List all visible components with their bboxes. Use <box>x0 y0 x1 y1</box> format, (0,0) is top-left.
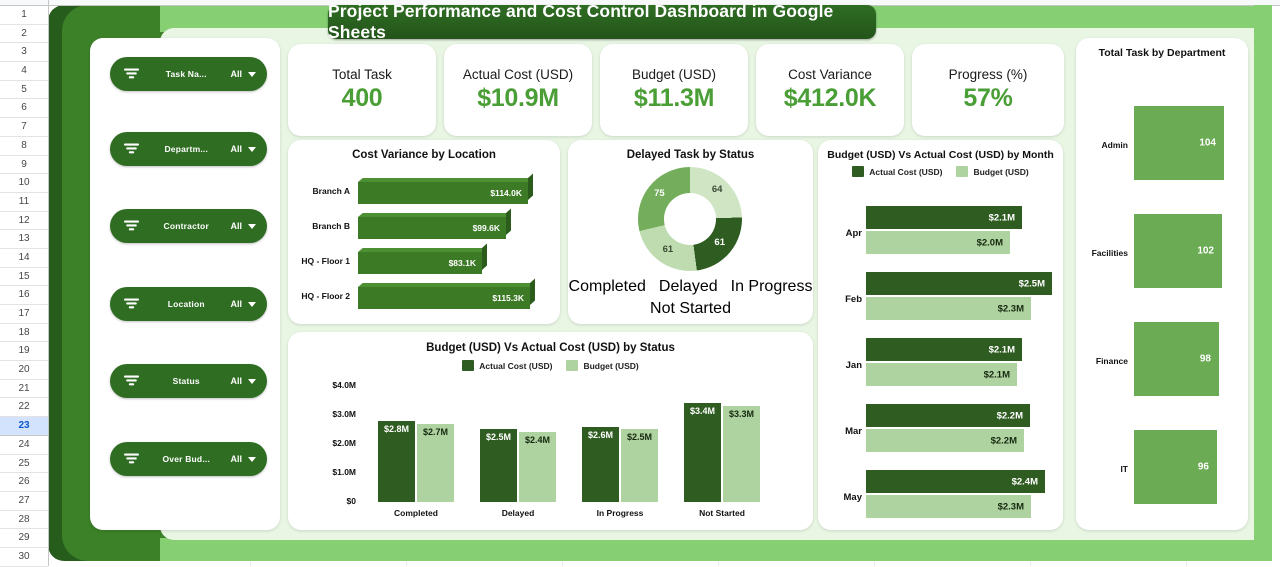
bar-3d-side <box>528 173 533 200</box>
kpi-value: 400 <box>342 84 383 113</box>
chart-card-total-task-by-department: Total Task by Department Admin104Facilit… <box>1076 38 1248 530</box>
chevron-down-icon[interactable] <box>248 379 256 384</box>
bar-3d-top <box>358 178 533 182</box>
x-axis-category-label: Delayed <box>466 508 570 518</box>
chart-title: Total Task by Department <box>1076 47 1248 59</box>
bar-value-label: $2.1M <box>989 344 1015 355</box>
kpi-label: Total Task <box>332 67 392 82</box>
filter-label: Contractor <box>142 221 230 231</box>
chart-title: Delayed Task by Status <box>568 149 813 161</box>
chart-title: Budget (USD) Vs Actual Cost (USD) by Mon… <box>818 149 1063 161</box>
dashboard-title-text: Project Performance and Cost Control Das… <box>328 1 876 43</box>
y-axis-tick-label: $0 <box>296 496 356 506</box>
bar-category-label: IT <box>1078 464 1128 474</box>
legend-label: Delayed <box>659 278 718 295</box>
filter-departm[interactable]: Departm...All <box>110 132 267 166</box>
bar-value-label: 96 <box>1198 462 1209 473</box>
bar-value-label: 104 <box>1199 138 1216 149</box>
bar-value-label: $2.4M <box>519 435 556 445</box>
column-budget: $2.5M <box>621 429 658 502</box>
legend-label: Budget (USD) <box>583 361 638 371</box>
filter-overbud[interactable]: Over Bud...All <box>110 442 267 476</box>
bar-category-label: HQ - Floor 2 <box>301 291 350 301</box>
kpi-card-actual-cost-usd: Actual Cost (USD)$10.9M <box>444 44 592 136</box>
chart-card-delayed-task-by-status: Delayed Task by Status 64616175 Complete… <box>568 140 813 324</box>
filter-label: Task Na... <box>142 69 230 79</box>
donut-slice-value: 61 <box>657 244 679 255</box>
filter-value: All <box>230 454 242 464</box>
kpi-card-cost-variance: Cost Variance$412.0K <box>756 44 904 136</box>
bar: 98 <box>1134 322 1219 396</box>
filter-contractor[interactable]: ContractorAll <box>110 209 267 243</box>
bar-value-label: $114.0K <box>490 188 522 198</box>
bar: $115.3K <box>358 287 530 309</box>
kpi-label: Progress (%) <box>949 67 1028 82</box>
bar-value-label: $2.2M <box>997 410 1023 421</box>
bar-value-label: $2.4M <box>1012 476 1038 487</box>
filter-panel: Task Na...AllDepartm...AllContractorAllL… <box>90 38 280 530</box>
kpi-label: Budget (USD) <box>632 67 716 82</box>
legend-item[interactable]: Actual Cost (USD) <box>852 166 942 177</box>
column-actual-cost: $2.5M <box>480 429 517 502</box>
x-axis-category-label: In Progress <box>568 508 672 518</box>
bar-category-label: Facilities <box>1078 248 1128 258</box>
column-budget: $2.4M <box>519 432 556 502</box>
bar-3d-top <box>358 213 511 217</box>
bar: $114.0K <box>358 182 528 204</box>
filter-label: Status <box>142 376 230 386</box>
legend-item[interactable]: Budget (USD) <box>956 166 1028 177</box>
filter-funnel-icon <box>120 453 142 465</box>
column-actual-cost: $2.8M <box>378 421 415 502</box>
x-axis-category-label: Completed <box>364 508 468 518</box>
bar-budget: $2.2M <box>866 429 1024 452</box>
legend-label: Actual Cost (USD) <box>479 361 552 371</box>
filter-label: Departm... <box>142 144 230 154</box>
bar-value-label: $83.1K <box>449 258 476 268</box>
bar-value-label: $2.6M <box>582 430 619 440</box>
legend-label: Completed <box>569 278 646 295</box>
bar-category-label: Jan <box>832 360 862 371</box>
bar-category-label: Finance <box>1078 356 1128 366</box>
bar-value-label: $2.1M <box>984 369 1010 380</box>
bar-3d-top <box>358 283 535 287</box>
bar-value-label: $2.2M <box>991 435 1017 446</box>
bar-value-label: $2.3M <box>998 303 1024 314</box>
bar: 104 <box>1134 106 1224 180</box>
bar-budget: $2.0M <box>866 231 1010 254</box>
donut-slice-value: 61 <box>709 237 731 248</box>
bar-category-label: Feb <box>832 294 862 305</box>
legend-swatch-icon <box>956 166 968 177</box>
legend-label: In Progress <box>731 278 813 295</box>
donut-slice-value: 64 <box>706 184 728 195</box>
bar-actual-cost: $2.1M <box>866 206 1022 229</box>
bar-value-label: $2.5M <box>1019 278 1045 289</box>
bar-category-label: Branch A <box>313 186 350 196</box>
kpi-card-budget-usd: Budget (USD)$11.3M <box>600 44 748 136</box>
bar-value-label: $2.3M <box>998 501 1024 512</box>
bar-actual-cost: $2.4M <box>866 470 1045 493</box>
legend-item[interactable]: Completed <box>569 278 646 296</box>
chevron-down-icon[interactable] <box>248 224 256 229</box>
kpi-card-total-task: Total Task400 <box>288 44 436 136</box>
bar-3d-top <box>358 248 487 252</box>
bar-3d-side <box>482 243 487 270</box>
y-axis-tick-label: $4.0M <box>296 380 356 390</box>
legend-swatch-icon <box>566 360 578 371</box>
bar-actual-cost: $2.2M <box>866 404 1030 427</box>
bar-value-label: $99.6K <box>473 223 500 233</box>
chevron-down-icon[interactable] <box>248 72 256 77</box>
bar-value-label: $3.3M <box>723 409 760 419</box>
chart-title: Cost Variance by Location <box>288 149 560 161</box>
filter-status[interactable]: StatusAll <box>110 364 267 398</box>
legend-item[interactable]: In Progress <box>731 278 813 296</box>
y-axis-tick-label: $3.0M <box>296 409 356 419</box>
bar-budget: $2.1M <box>866 363 1017 386</box>
bar-category-label: Branch B <box>312 221 350 231</box>
filter-value: All <box>230 144 242 154</box>
filter-location[interactable]: LocationAll <box>110 287 267 321</box>
filter-funnel-icon <box>120 68 142 80</box>
kpi-value: $11.3M <box>634 84 714 113</box>
filter-label: Over Bud... <box>142 454 230 464</box>
legend-item[interactable]: Delayed <box>659 278 718 296</box>
x-axis-category-label: Not Started <box>670 508 774 518</box>
kpi-card-progress: Progress (%)57% <box>912 44 1064 136</box>
bar-category-label: Apr <box>832 228 862 239</box>
legend-item[interactable]: Actual Cost (USD) <box>462 360 552 371</box>
legend-swatch-icon <box>462 360 474 371</box>
bar-actual-cost: $2.5M <box>866 272 1052 295</box>
bar-3d-side <box>530 278 535 305</box>
legend-label: Budget (USD) <box>973 167 1028 177</box>
legend-swatch-icon <box>852 166 864 177</box>
filter-funnel-icon <box>120 375 142 387</box>
filter-funnel-icon <box>120 143 142 155</box>
chart-card-budget-vs-actual-by-month: Budget (USD) Vs Actual Cost (USD) by Mon… <box>818 140 1063 530</box>
bar: $83.1K <box>358 252 482 274</box>
filter-funnel-icon <box>120 298 142 310</box>
kpi-value: $10.9M <box>477 84 559 113</box>
bar-budget: $2.3M <box>866 495 1031 518</box>
filter-value: All <box>230 376 242 386</box>
bar-value-label: $2.5M <box>480 432 517 442</box>
kpi-value: 57% <box>963 84 1012 113</box>
filter-value: All <box>230 69 242 79</box>
chevron-down-icon[interactable] <box>248 302 256 307</box>
filter-taskna[interactable]: Task Na...All <box>110 57 267 91</box>
legend-item[interactable]: Not Started <box>650 300 731 318</box>
legend-item[interactable]: Budget (USD) <box>566 360 638 371</box>
bar-value-label: $2.5M <box>621 432 658 442</box>
filter-value: All <box>230 299 242 309</box>
bar-value-label: $2.0M <box>977 237 1003 248</box>
chevron-down-icon[interactable] <box>248 457 256 462</box>
bar-category-label: Mar <box>832 426 862 437</box>
bar-value-label: $115.3K <box>492 293 524 303</box>
y-axis-tick-label: $1.0M <box>296 467 356 477</box>
kpi-value: $412.0K <box>784 84 876 113</box>
column-actual-cost: $3.4M <box>684 403 721 502</box>
column-budget: $2.7M <box>417 424 454 502</box>
bar-value-label: $3.4M <box>684 406 721 416</box>
bar-value-label: 98 <box>1200 354 1211 365</box>
chevron-down-icon[interactable] <box>248 147 256 152</box>
column-budget: $3.3M <box>723 406 760 502</box>
y-axis-tick-label: $2.0M <box>296 438 356 448</box>
bar-value-label: $2.8M <box>378 424 415 434</box>
column-actual-cost: $2.6M <box>582 427 619 502</box>
donut-slice-value: 75 <box>648 188 670 199</box>
chart-card-budget-vs-actual-by-status: Budget (USD) Vs Actual Cost (USD) by Sta… <box>288 332 813 530</box>
bar-category-label: May <box>832 492 862 503</box>
bar-budget: $2.3M <box>866 297 1031 320</box>
bar: 102 <box>1134 214 1222 288</box>
donut-chart <box>638 167 742 271</box>
bar-category-label: HQ - Floor 1 <box>301 256 350 266</box>
legend-label: Actual Cost (USD) <box>869 167 942 177</box>
bar-value-label: $2.7M <box>417 427 454 437</box>
chart-card-cost-variance-by-location: Cost Variance by Location Branch A$114.0… <box>288 140 560 324</box>
dashboard-title: Project Performance and Cost Control Das… <box>328 5 876 39</box>
legend-label: Not Started <box>650 300 731 317</box>
bar-category-label: Admin <box>1078 140 1128 150</box>
bar-value-label: $2.1M <box>989 212 1015 223</box>
bar: $99.6K <box>358 217 506 239</box>
bar-value-label: 102 <box>1197 246 1214 257</box>
filter-label: Location <box>142 299 230 309</box>
bar-3d-side <box>506 208 511 235</box>
kpi-label: Cost Variance <box>788 67 872 82</box>
bar: 96 <box>1134 430 1217 504</box>
chart-title: Budget (USD) Vs Actual Cost (USD) by Sta… <box>288 342 813 354</box>
kpi-label: Actual Cost (USD) <box>463 67 573 82</box>
filter-funnel-icon <box>120 220 142 232</box>
bar-actual-cost: $2.1M <box>866 338 1022 361</box>
filter-value: All <box>230 221 242 231</box>
